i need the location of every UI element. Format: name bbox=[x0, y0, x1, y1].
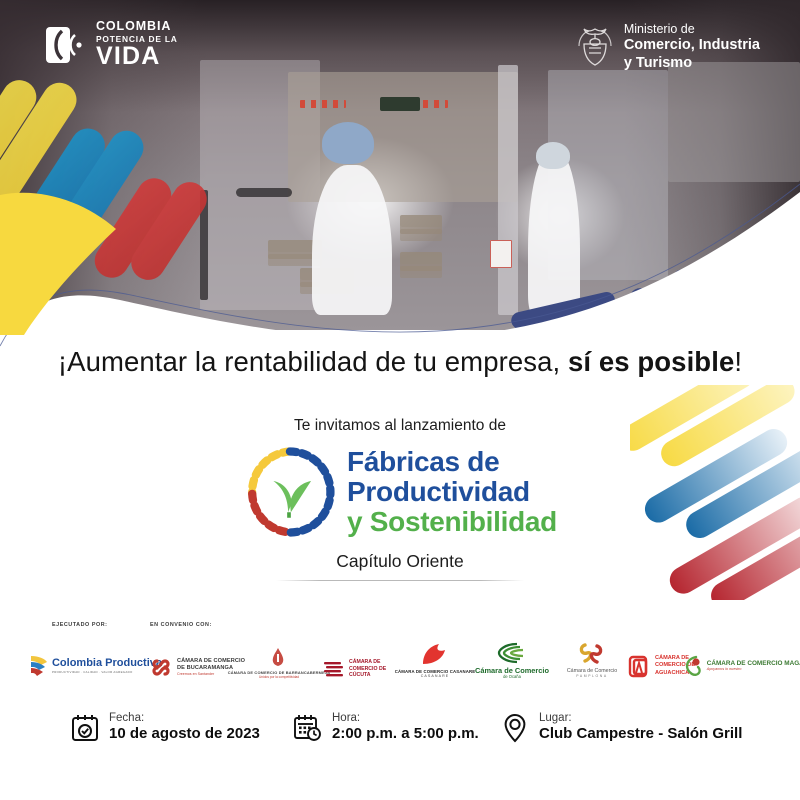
photo-worker-back bbox=[528, 150, 580, 315]
camara-comercio-ocana-logo-icon bbox=[495, 641, 529, 665]
sponsor-sub: PAMPLONA bbox=[567, 675, 617, 679]
brand-line2: Productividad bbox=[347, 478, 557, 506]
calendar-check-icon bbox=[70, 713, 100, 743]
calendar-clock-icon bbox=[293, 713, 323, 743]
photo-safety-sign bbox=[490, 240, 512, 268]
colombia-potencia-logo: COLOMBIA POTENCIA DE LA VIDA bbox=[46, 20, 178, 69]
invite-subtitle: Te invitamos al lanzamiento de bbox=[0, 417, 800, 435]
camara-comercio-magangue-logo-icon bbox=[682, 653, 704, 679]
ministry-logo: Ministerio de Comercio, Industria y Turi… bbox=[577, 22, 760, 73]
headline-bold: sí es posible bbox=[568, 346, 734, 377]
photo-arm bbox=[236, 188, 292, 197]
gear-leaf-logo-icon bbox=[243, 446, 335, 538]
colombia-potencia-mark bbox=[46, 25, 86, 65]
camara-comercio-casanare-logo-icon bbox=[415, 642, 455, 668]
photo-column bbox=[498, 65, 518, 315]
sponsor-sub: de Ocaña bbox=[475, 675, 549, 679]
camara-comercio-cucuta-logo-icon bbox=[323, 659, 345, 679]
brand-lockup: Fábricas de Productividad y Sostenibilid… bbox=[0, 446, 800, 538]
photo-display bbox=[380, 97, 420, 111]
sponsor-sub: Unidos por la competitividad bbox=[228, 676, 331, 679]
sponsor-name: Colombia Productiva bbox=[52, 658, 162, 670]
event-date: Fecha: 10 de agosto de 2023 bbox=[70, 712, 260, 743]
decor-yellow-wedge bbox=[0, 185, 160, 335]
camara-comercio-barrancabermeja-logo-icon bbox=[267, 647, 291, 669]
place-value: Club Campestre - Salón Grill bbox=[539, 725, 742, 743]
ministry-line3: y Turismo bbox=[624, 55, 760, 73]
photo-arm bbox=[200, 190, 208, 300]
brand-words: Fábricas de Productividad y Sostenibilid… bbox=[347, 448, 557, 536]
colombia-productiva-logo-icon bbox=[28, 653, 48, 679]
photo-machine bbox=[668, 62, 800, 182]
event-details-bar: Fecha: 10 de agosto de 2023 bbox=[0, 712, 800, 768]
ministry-line1: Ministerio de bbox=[624, 22, 760, 37]
chapter-divider bbox=[276, 580, 524, 581]
colombia-logo-line3: VIDA bbox=[96, 44, 178, 69]
time-value: 2:00 p.m. a 5:00 p.m. bbox=[332, 725, 479, 743]
photo-worker-hairnet bbox=[322, 122, 374, 164]
sponsor-logo: CÁMARA DE COMERCIO DE BARRANCABERMEJA Un… bbox=[234, 622, 324, 688]
map-pin-icon bbox=[500, 713, 530, 743]
date-value: 10 de agosto de 2023 bbox=[109, 725, 260, 743]
date-label: Fecha: bbox=[109, 712, 260, 725]
camara-comercio-aguachica-logo-icon bbox=[627, 653, 651, 679]
photo-worker-front bbox=[312, 165, 392, 315]
headline-end: ! bbox=[734, 346, 742, 377]
event-place: Lugar: Club Campestre - Salón Grill bbox=[500, 712, 742, 743]
brand-line1: Fábricas de bbox=[347, 448, 557, 476]
sponsor-logo: Cámara de Comercio de Ocaña bbox=[462, 622, 562, 688]
camara-comercio-pamplona-logo-icon bbox=[577, 641, 607, 667]
camara-comercio-bucaramanga-logo-icon bbox=[151, 655, 173, 679]
event-time: Hora: 2:00 p.m. a 5:00 p.m. bbox=[293, 712, 479, 743]
ministry-line2: Comercio, Industria bbox=[624, 37, 760, 55]
sponsor-sub: PRODUCTIVIDAD · CALIDAD · VALOR AGREGADO bbox=[52, 671, 162, 674]
chapter-label: Capítulo Oriente bbox=[0, 551, 800, 572]
brand-line3: y Sostenibilidad bbox=[347, 508, 557, 536]
sponsor-logo: Colombia Productiva PRODUCTIVIDAD · CALI… bbox=[40, 622, 150, 688]
time-label: Hora: bbox=[332, 712, 479, 725]
photo-product-trays bbox=[400, 215, 442, 227]
sponsor-name: CÁMARA DE COMERCIO MAGANGUÉ bbox=[707, 660, 800, 668]
sponsor-logo: CÁMARA DE COMERCIO MAGANGUÉ Apoyamos lo … bbox=[706, 622, 798, 688]
sponsor-sub: Apoyamos lo nuestro bbox=[707, 668, 800, 672]
headline-regular: ¡Aumentar la rentabilidad de tu empresa, bbox=[58, 346, 568, 377]
sponsor-strip: EJECUTADO POR: EN CONVENIO CON: Colombia… bbox=[0, 622, 800, 688]
place-label: Lugar: bbox=[539, 712, 742, 725]
colombia-coat-of-arms-shield-icon bbox=[577, 26, 613, 68]
photo-indicator-lights bbox=[300, 100, 346, 108]
photo-product-trays bbox=[400, 252, 442, 264]
colombia-logo-line1: COLOMBIA bbox=[96, 20, 178, 33]
page-title: ¡Aumentar la rentabilidad de tu empresa,… bbox=[0, 346, 800, 378]
photo-worker-hairnet bbox=[536, 142, 570, 169]
invitation-poster: COLOMBIA POTENCIA DE LA VIDA Ministerio … bbox=[0, 0, 800, 800]
